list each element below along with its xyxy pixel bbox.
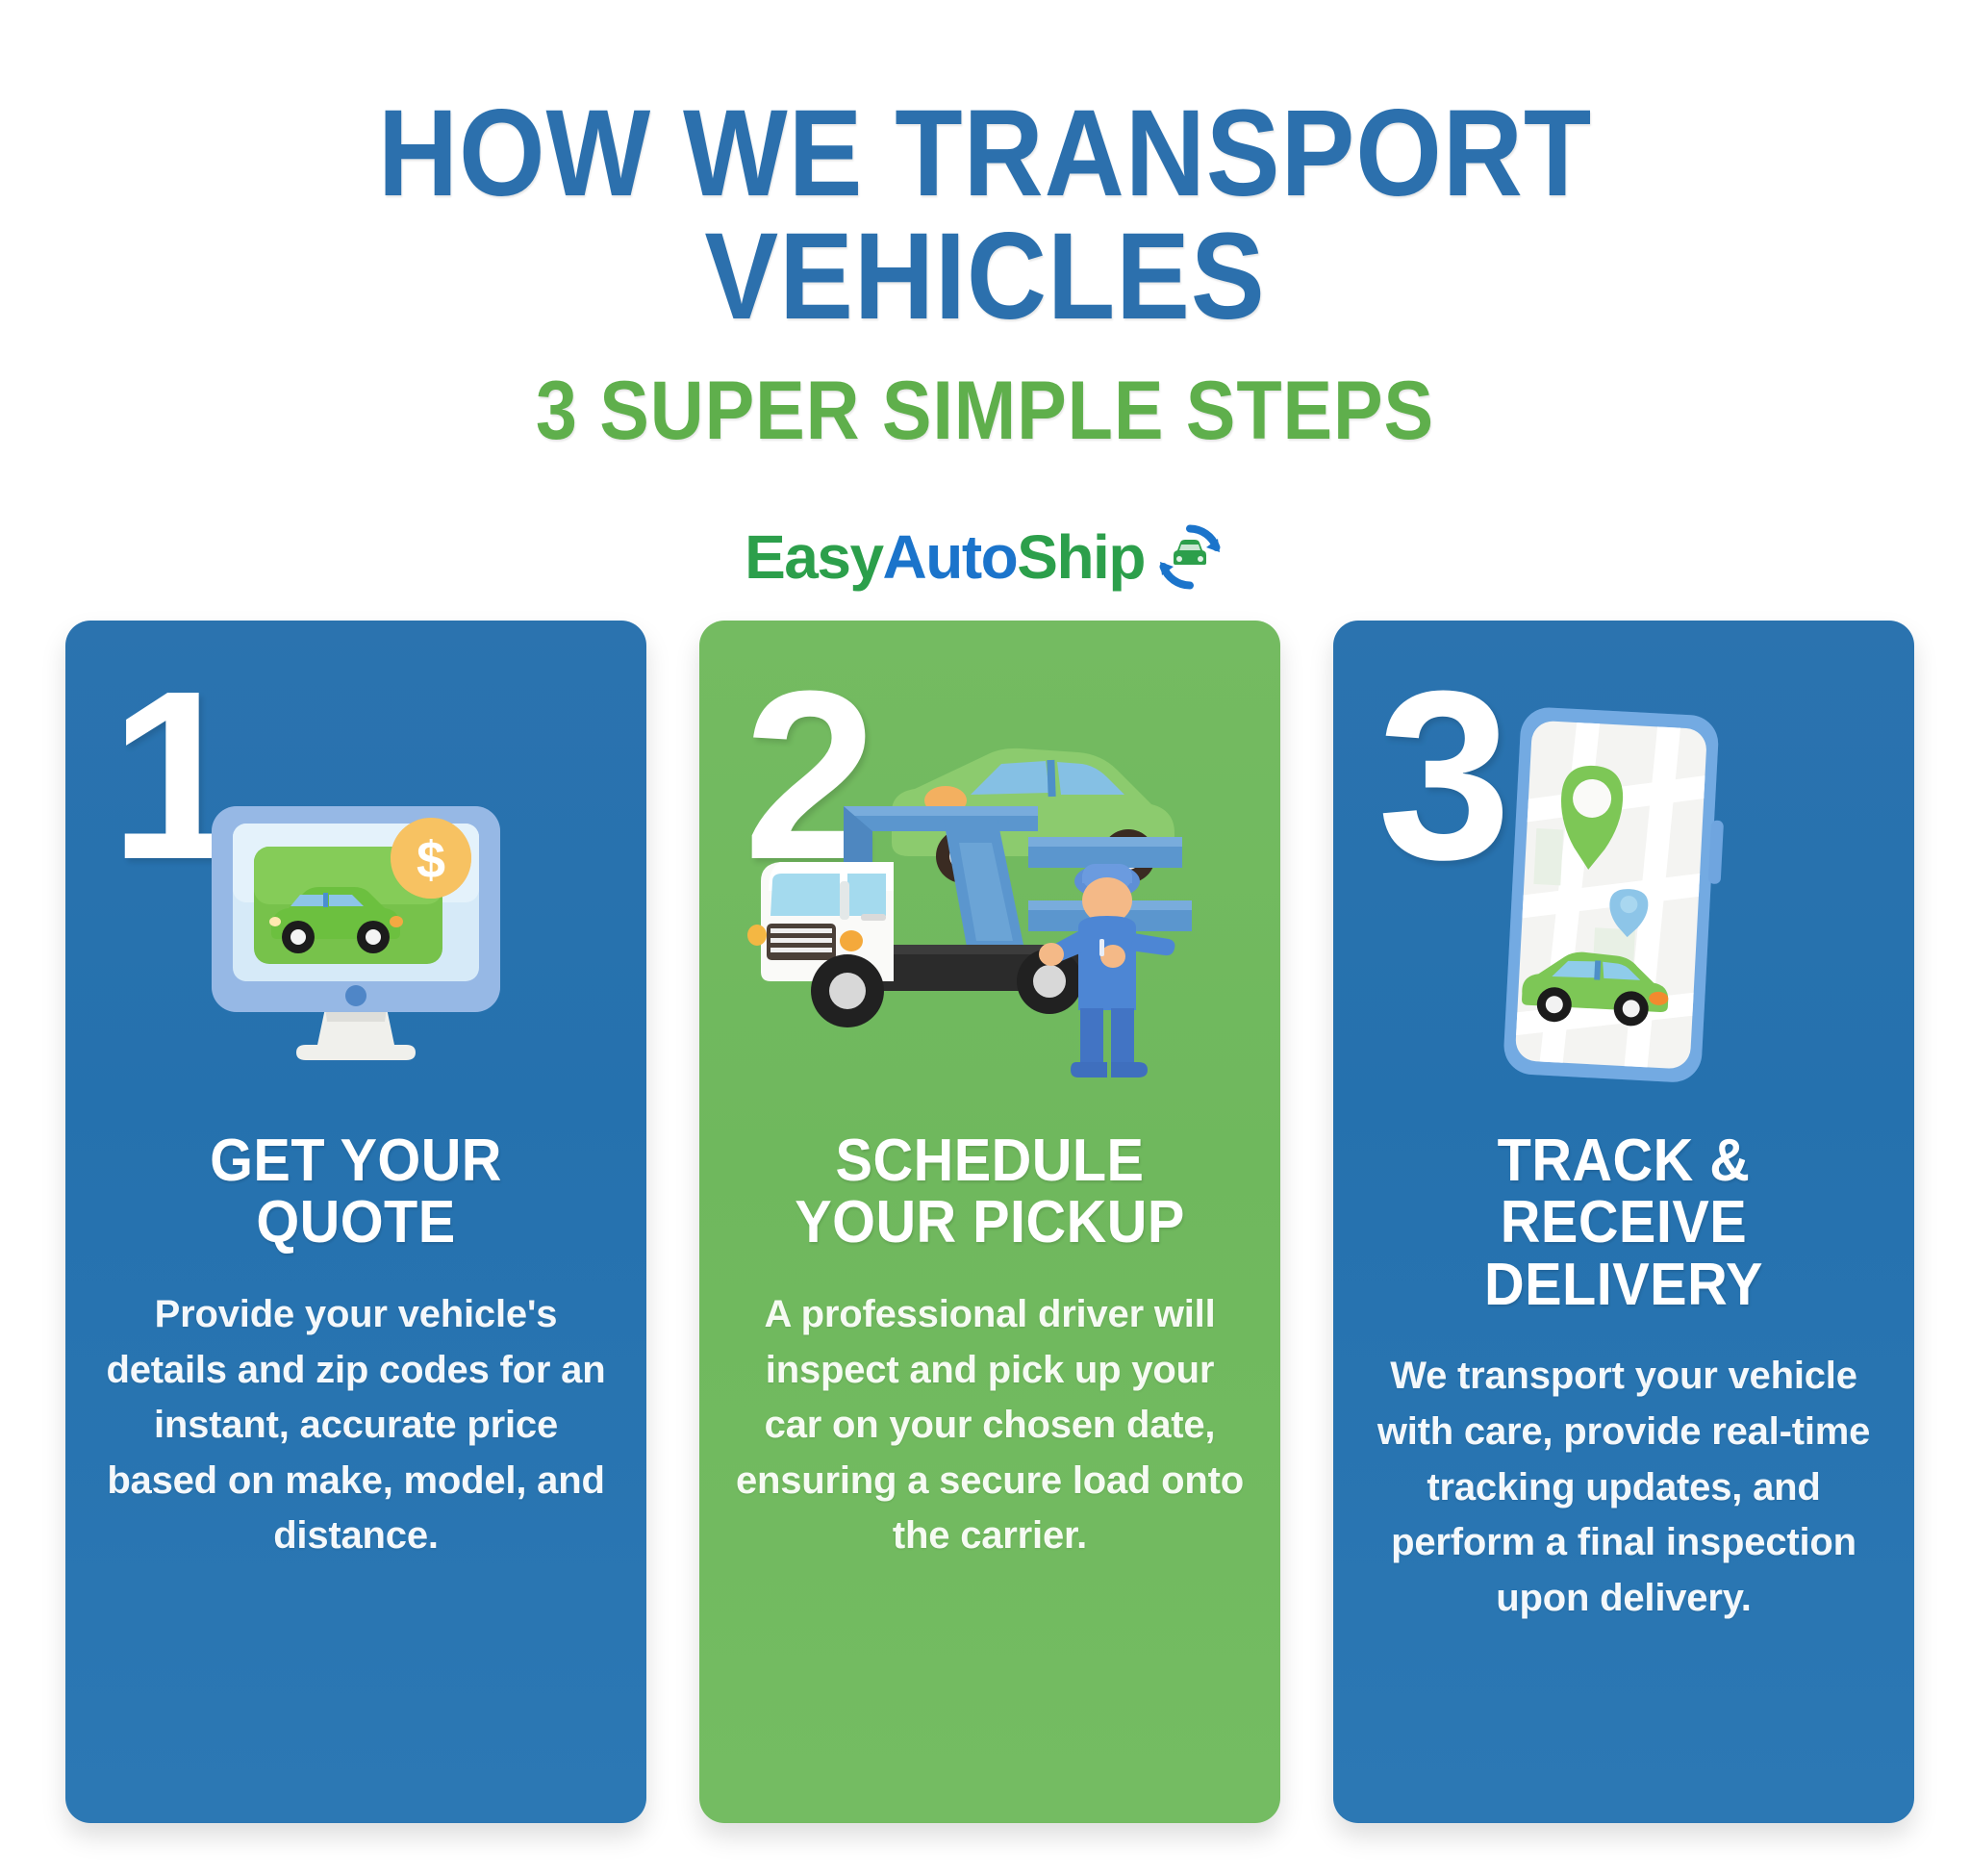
step-text-1: Provide your vehicle's details and zip c… [98,1287,614,1564]
cycle-car-icon [1154,521,1225,593]
steps-container: 1 $ [65,621,1914,1823]
step-text-2: A professional driver will inspect and p… [732,1287,1248,1564]
step-card-3[interactable]: 3 [1333,621,1914,1823]
step-card-1-body: GET YOUR QUOTE Provide your vehicle's de… [65,1130,646,1564]
step-card-1[interactable]: 1 $ [65,621,646,1823]
smartphone-map-tracking-illustration [1333,669,1914,1121]
brand-logo-part-ship: Ship [1017,522,1145,592]
page-subtitle: 3 SUPER SIMPLE STEPS [98,369,1871,452]
infographic-header: HOW WE TRANSPORT VEHICLES 3 SUPER SIMPLE… [0,0,1970,593]
brand-logo-text: EasyAutoShip [745,526,1145,588]
svg-text:$: $ [417,831,445,889]
step-card-2-body: SCHEDULE YOUR PICKUP A professional driv… [699,1130,1280,1564]
step-heading-3: TRACK & RECEIVE DELIVERY [1384,1130,1863,1316]
monitor-car-quote-illustration: $ [65,669,646,1121]
step-heading-1: GET YOUR QUOTE [116,1130,595,1255]
car-carrier-truck-driver-illustration [699,669,1280,1121]
brand-logo-part-easy: Easy [745,522,882,592]
step-card-3-body: TRACK & RECEIVE DELIVERY We transport yo… [1333,1130,1914,1626]
step-heading-2: SCHEDULE YOUR PICKUP [750,1130,1229,1255]
step-card-2[interactable]: 2 [699,621,1280,1823]
brand-logo: EasyAutoShip [0,521,1970,593]
brand-logo-part-auto: Auto [883,522,1018,592]
page-title: HOW WE TRANSPORT VEHICLES [98,92,1871,339]
step-text-3: We transport your vehicle with care, pro… [1366,1349,1882,1626]
